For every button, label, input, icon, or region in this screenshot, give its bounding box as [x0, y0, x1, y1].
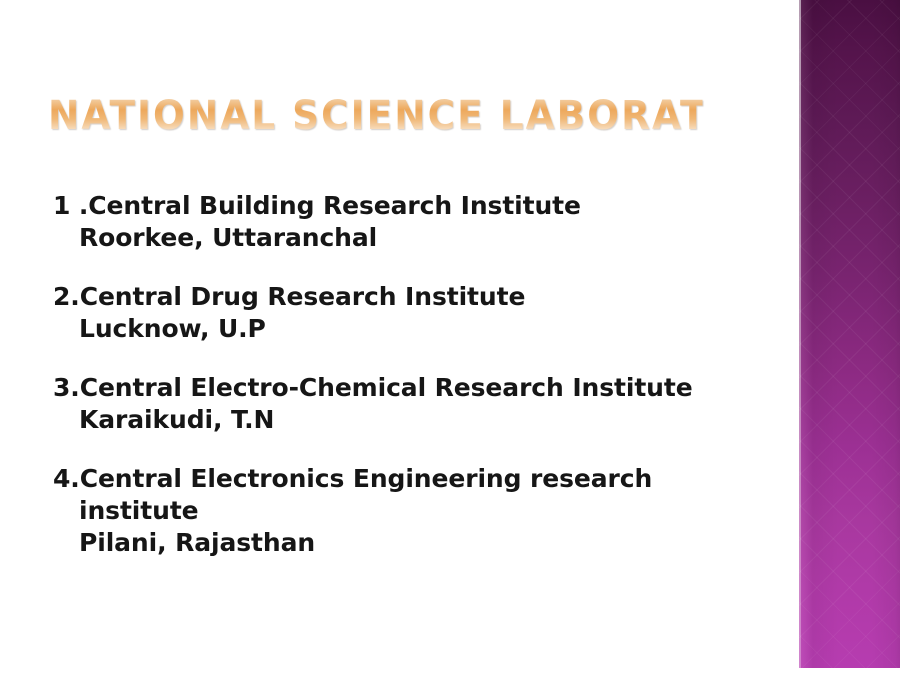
laboratory-list: 1 .Central Building Research Institute R… — [53, 190, 773, 559]
panel-left-edge — [799, 0, 801, 668]
list-item-location: Karaikudi, T.N — [53, 404, 773, 436]
list-item-name: 3.Central Electro-Chemical Research Inst… — [53, 372, 773, 404]
list-item: 1 .Central Building Research Institute R… — [53, 190, 773, 254]
list-item-name: 1 .Central Building Research Institute — [53, 190, 773, 222]
panel-sheen — [799, 0, 900, 668]
list-item: 3.Central Electro-Chemical Research Inst… — [53, 372, 773, 436]
list-item-name: 2.Central Drug Research Institute — [53, 281, 773, 313]
list-item-location: Lucknow, U.P — [53, 313, 773, 345]
list-item-location: Pilani, Rajasthan — [53, 527, 773, 559]
list-item-name: 4.Central Electronics Engineering resear… — [53, 463, 773, 495]
list-item-name-continued: institute — [53, 495, 773, 527]
list-item: 2.Central Drug Research Institute Luckno… — [53, 281, 773, 345]
list-item-location: Roorkee, Uttaranchal — [53, 222, 773, 254]
decorative-side-panel — [799, 0, 900, 668]
slide: National Science Laboratories 1 .Central… — [0, 0, 900, 675]
list-item: 4.Central Electronics Engineering resear… — [53, 463, 773, 559]
page-title: National Science Laboratories — [48, 92, 703, 144]
